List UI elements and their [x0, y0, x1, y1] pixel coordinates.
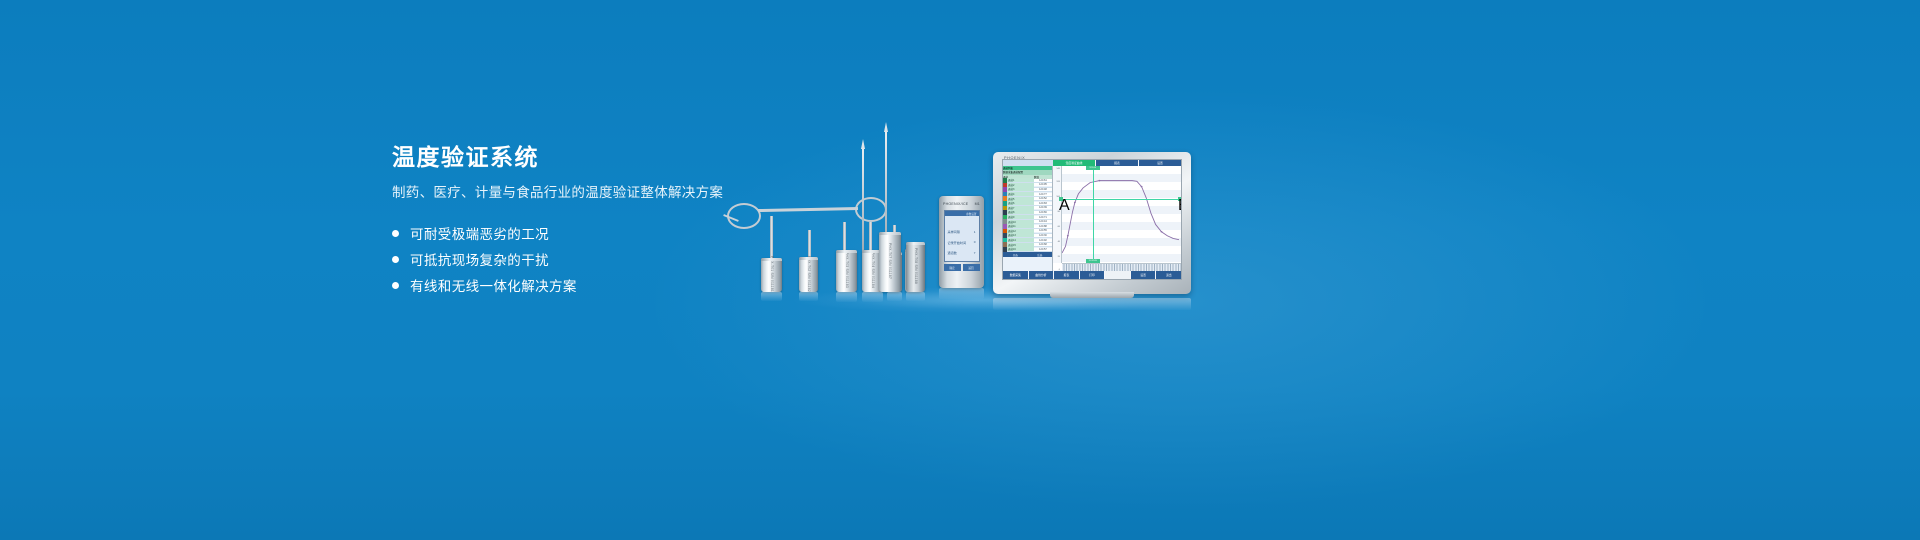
logger-label: PHX-T04 S/N 011184 [871, 252, 875, 288]
setting-label: 记录开始时间 [948, 240, 967, 245]
channel-name: 通道11 [1007, 224, 1034, 228]
channel-value: 120.61 [1034, 179, 1052, 182]
channel-value: 120.66 [1034, 211, 1052, 214]
reflection [761, 292, 782, 301]
reflection [939, 288, 984, 299]
temperature-chart[interactable]: 140 120 100 80 60 40 20 0 A [1053, 166, 1181, 271]
setting-label: 通道数 [948, 250, 957, 255]
logger-label: PHX-T02 S/N 011182 [807, 256, 811, 292]
reflection [836, 292, 857, 302]
invert-selection-button[interactable]: 反选 [1028, 252, 1053, 257]
logger-label: PHX-T08 S/N 011188 [914, 248, 918, 284]
channel-name: 通道10 [1007, 220, 1034, 224]
handheld-screen-titlebar: 参数设置 [945, 211, 979, 216]
channel-value: 120.68 [1034, 243, 1052, 246]
channel-value: 120.77 [1034, 193, 1052, 196]
reflection [887, 292, 902, 301]
channel-value: 120.30 [1034, 234, 1052, 237]
monitor-stand [1050, 292, 1134, 298]
channel-name: 通道16 [1007, 247, 1034, 251]
setting-value: 1 [974, 230, 976, 234]
button-curve-analysis[interactable]: 曲线分析 [1029, 271, 1054, 279]
logger-cylinder-tall: PHX-T07 S/N 011187 [879, 232, 901, 292]
channel-value: 120.88 [1034, 225, 1052, 228]
handheld-setting-rows: 采样间隔 1 记录开始时间 0 通道数 7 [948, 229, 976, 261]
channel-name: 通道2 [1007, 183, 1034, 187]
marker-handle-left[interactable]: A [1059, 197, 1063, 201]
channel-name: 通道4 [1007, 192, 1034, 196]
channel-value: 120.52 [1034, 197, 1052, 200]
marker-handle-right[interactable]: B [1178, 197, 1182, 201]
chart-y-axis: 140 120 100 80 60 40 20 0 [1053, 166, 1062, 263]
channel-value: 120.71 [1034, 216, 1052, 219]
channel-name: 通道6 [1007, 201, 1034, 205]
channel-value: 120.55 [1034, 229, 1052, 232]
handheld-confirm-button[interactable]: 确定 [944, 264, 961, 271]
list-item: 可抵抗现场复杂的干扰 [392, 246, 812, 272]
feature-label: 可抵抗现场复杂的干扰 [410, 249, 549, 269]
bullet-dot-icon [392, 230, 399, 237]
button-report[interactable]: 报表 [1054, 271, 1079, 279]
channel-name: 通道5 [1007, 197, 1034, 201]
monitor-bottombar: 数据采集 曲线分析 报表 打印 设置 退出 [1003, 271, 1181, 279]
handheld-back-button[interactable]: 返回 [963, 264, 980, 271]
channel-name: 通道15 [1007, 243, 1034, 247]
coiled-probe-icon [855, 197, 887, 222]
button-print[interactable]: 打印 [1080, 271, 1105, 279]
y-tick-20: 20 [1058, 256, 1060, 258]
needle-tip-icon [884, 122, 888, 132]
chart-series-path [1062, 168, 1179, 261]
list-item[interactable]: 采样间隔 1 [948, 229, 976, 234]
reflection [906, 292, 925, 301]
logger-cylinder: PHX-T02 S/N 011182 [799, 257, 818, 292]
channel-name: 通道3 [1007, 187, 1034, 191]
monitor-screen: 温度验证曲线 报表 设置 通道列表 数据采集通道配置 通道 数值 通道1120.… [1002, 159, 1182, 280]
page-subtitle: 制药、医疗、计量与食品行业的温度验证整体解决方案 [392, 183, 812, 203]
y-tick-140: 140 [1056, 168, 1060, 170]
list-item[interactable]: 记录开始时间 0 [948, 240, 976, 245]
feature-label: 可耐受极端恶劣的工况 [410, 223, 549, 243]
handheld-brand-label: PHOENIX/ICE [943, 202, 968, 206]
y-tick-0: 0 [1059, 269, 1060, 271]
probe-stem [843, 222, 846, 252]
channel-value: 120.48 [1034, 188, 1052, 191]
bullet-dot-icon [392, 282, 399, 289]
coiled-probe-icon [727, 203, 761, 229]
channel-list-panel: 通道列表 数据采集通道配置 通道 数值 通道1120.61 通道2120.95 … [1003, 166, 1053, 271]
channel-value: 120.44 [1034, 220, 1052, 223]
channel-name: 通道9 [1007, 215, 1034, 219]
channel-value: 120.57 [1034, 248, 1052, 251]
channel-value: 120.95 [1034, 183, 1052, 186]
reflection [862, 292, 883, 302]
handheld-model-label: M1 [975, 202, 980, 206]
probe-stem [770, 216, 773, 260]
setting-label: 采样间隔 [948, 229, 960, 234]
select-all-button[interactable]: 全选 [1003, 252, 1028, 257]
reflection [799, 292, 818, 301]
handheld-screen-title: 参数设置 [966, 212, 976, 216]
needle-tip-icon [861, 139, 865, 149]
channel-rows: 通道1120.61 通道2120.95 通道3120.48 通道4120.77 … [1003, 179, 1052, 253]
handheld-brand-row: PHOENIX/ICE M1 [943, 202, 980, 206]
handheld-reader[interactable]: PHOENIX/ICE M1 参数设置 采样间隔 1 记录开始时间 0 通道数 … [939, 196, 984, 288]
logger-label: PHX-T01 S/N 011181 [770, 256, 774, 292]
list-item[interactable]: 通道数 7 [948, 250, 976, 255]
y-tick-40: 40 [1058, 241, 1060, 243]
logger-label: PHX-T07 S/N 011187 [888, 243, 892, 279]
bottombar-spacer [1105, 271, 1130, 279]
logger-cylinder: PHX-T03 S/N 011183 [836, 250, 857, 292]
chart-horizontal-scrollbar[interactable] [1062, 263, 1181, 271]
probe-stem [869, 222, 872, 250]
channel-value: 120.39 [1034, 206, 1052, 209]
logger-cylinder-textured: PHX-T08 S/N 011188 [906, 242, 925, 292]
y-tick-120: 120 [1056, 181, 1060, 183]
needle-probe [862, 148, 864, 266]
feature-list: 可耐受极端恶劣的工况 可抵抗现场复杂的干扰 有线和无线一体化解决方案 [392, 220, 812, 298]
logger-cylinder: PHX-T01 S/N 011181 [761, 258, 782, 292]
probe-stem [808, 230, 811, 258]
channel-name: 通道1 [1007, 178, 1034, 182]
hero-banner: 温度验证系统 制药、医疗、计量与食品行业的温度验证整体解决方案 可耐受极端恶劣的… [0, 0, 1920, 540]
channel-list-footer: 全选 反选 [1003, 252, 1052, 257]
channel-name: 通道13 [1007, 233, 1034, 237]
setting-value: 7 [974, 251, 976, 255]
handheld-button-row: 确定 返回 [944, 264, 980, 271]
chart-vertical-cursor[interactable]: 121.04 11:32:05 [1093, 168, 1094, 261]
handheld-screen: 参数设置 采样间隔 1 记录开始时间 0 通道数 7 [944, 210, 980, 262]
y-tick-60: 60 [1058, 226, 1060, 228]
bullet-dot-icon [392, 256, 399, 263]
channel-name: 通道12 [1007, 229, 1034, 233]
channel-value: 120.92 [1034, 239, 1052, 242]
monitor-body: 通道列表 数据采集通道配置 通道 数值 通道1120.61 通道2120.95 … [1003, 166, 1181, 271]
monitor-display: PHOENIX 温度验证曲线 报表 设置 通道列表 数据采集通道配置 通道 [993, 152, 1191, 294]
button-settings[interactable]: 设置 [1131, 271, 1156, 279]
reflection [993, 298, 1191, 310]
logger-label: PHX-T03 S/N 011183 [845, 252, 849, 288]
channel-name: 通道8 [1007, 210, 1034, 214]
button-data-acquisition[interactable]: 数据采集 [1003, 271, 1028, 279]
cursor-value-top: 121.04 [1086, 166, 1100, 170]
button-exit[interactable]: 退出 [1156, 271, 1181, 279]
setting-value: 0 [974, 240, 976, 244]
feature-label: 有线和无线一体化解决方案 [410, 275, 577, 295]
channel-name: 通道7 [1007, 206, 1034, 210]
channel-name: 通道14 [1007, 238, 1034, 242]
chart-threshold-line: A B [1062, 199, 1179, 200]
list-item: 有线和无线一体化解决方案 [392, 272, 812, 298]
page-title: 温度验证系统 [392, 143, 812, 171]
channel-value: 120.83 [1034, 202, 1052, 205]
